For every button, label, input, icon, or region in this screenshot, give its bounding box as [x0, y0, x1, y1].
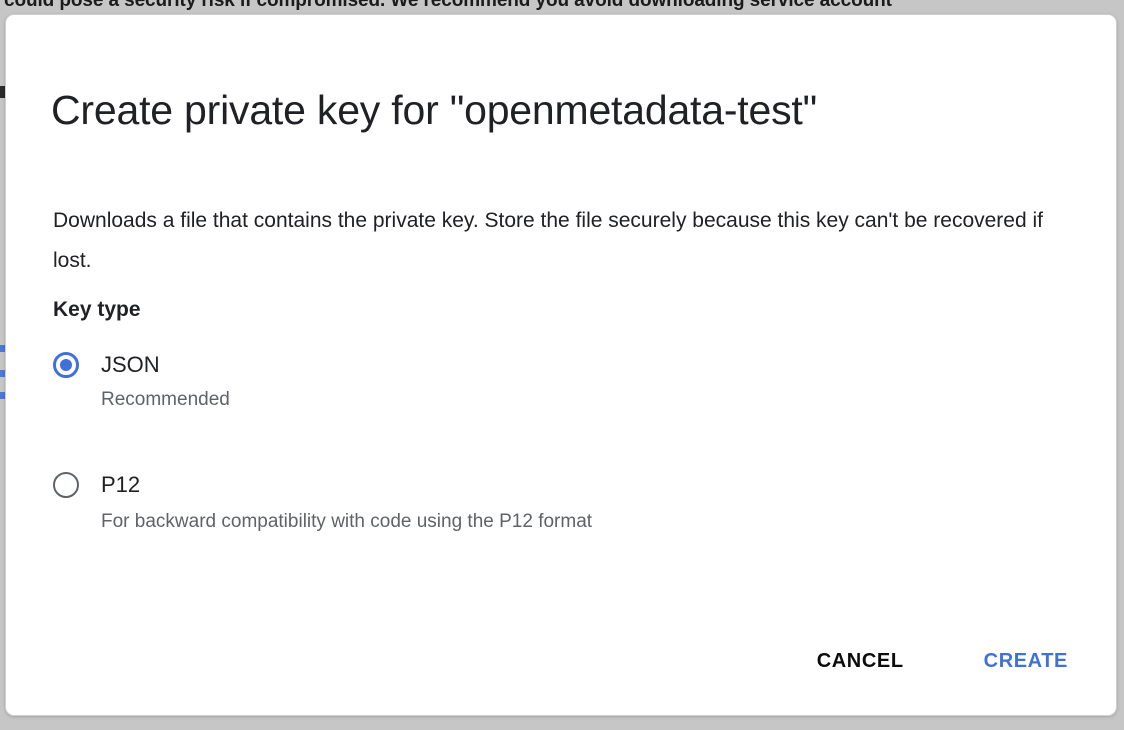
- radio-option-p12-label: P12: [101, 472, 140, 498]
- cancel-button[interactable]: CANCEL: [803, 640, 918, 683]
- dialog-title: Create private key for "openmetadata-tes…: [51, 87, 817, 134]
- key-type-radio-group[interactable]: JSON Recommended P12 For backward compat…: [53, 345, 1053, 535]
- dialog-description: Downloads a file that contains the priva…: [53, 201, 1053, 281]
- create-button[interactable]: CREATE: [970, 640, 1082, 683]
- radio-option-p12-row[interactable]: P12: [53, 465, 1053, 505]
- radio-option-json-label: JSON: [101, 352, 160, 378]
- radio-option-json-row[interactable]: JSON: [53, 345, 1053, 385]
- dialog-action-bar: CANCEL CREATE: [803, 640, 1082, 683]
- radio-option-p12[interactable]: P12 For backward compatibility with code…: [53, 465, 1053, 533]
- radio-selected-icon[interactable]: [53, 352, 79, 378]
- radio-option-json-description: Recommended: [101, 389, 1053, 411]
- key-type-label: Key type: [53, 298, 141, 322]
- create-private-key-dialog: Create private key for "openmetadata-tes…: [5, 14, 1117, 716]
- radio-unselected-icon[interactable]: [53, 472, 79, 498]
- radio-option-json[interactable]: JSON Recommended: [53, 345, 1053, 411]
- backdrop-obscured-text: could pose a security risk if compromise…: [4, 0, 1124, 12]
- radio-option-p12-description: For backward compatibility with code usi…: [101, 511, 1053, 533]
